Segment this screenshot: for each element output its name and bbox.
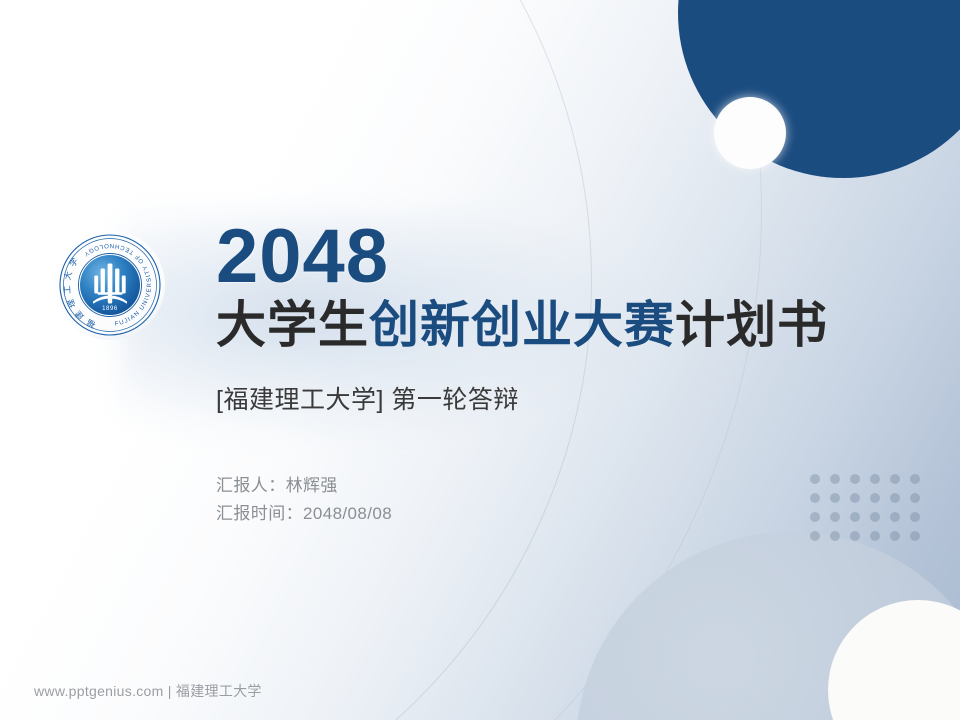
- presenter-name: 汇报人：林辉强: [216, 472, 916, 500]
- headline-segment-2: 创新创业大赛: [369, 297, 675, 353]
- svg-text:1896: 1896: [102, 306, 118, 312]
- subtitle: [福建理工大学] 第一轮答辩: [216, 380, 916, 416]
- page-title: 大学生创新创业大赛计划书: [216, 298, 916, 352]
- navy-circle-decoration: [678, 0, 960, 178]
- headline-segment-1: 大学生: [216, 297, 369, 353]
- year-heading: 2048: [216, 222, 916, 292]
- headline-segment-3: 计划书: [675, 297, 828, 353]
- white-circle-decoration-bottom-right: [828, 600, 960, 720]
- grey-circle-decoration-bottom: [576, 532, 960, 720]
- presentation-date: 汇报时间：2048/08/08: [216, 500, 916, 528]
- university-logo-icon: FUJIAN UNIVERSITY OF TECHNOLOGY 福建理工大学 1…: [54, 229, 166, 341]
- white-circle-accent-top: [714, 97, 786, 169]
- presenter-meta-block: 汇报人：林辉强 汇报时间：2048/08/08: [216, 472, 916, 528]
- presentation-title-slide: FUJIAN UNIVERSITY OF TECHNOLOGY 福建理工大学 1…: [0, 0, 960, 720]
- title-content-block: 2048 大学生创新创业大赛计划书 [福建理工大学] 第一轮答辩 汇报人：林辉强…: [216, 222, 916, 528]
- footer-credit: www.pptgenius.com | 福建理工大学: [34, 681, 262, 701]
